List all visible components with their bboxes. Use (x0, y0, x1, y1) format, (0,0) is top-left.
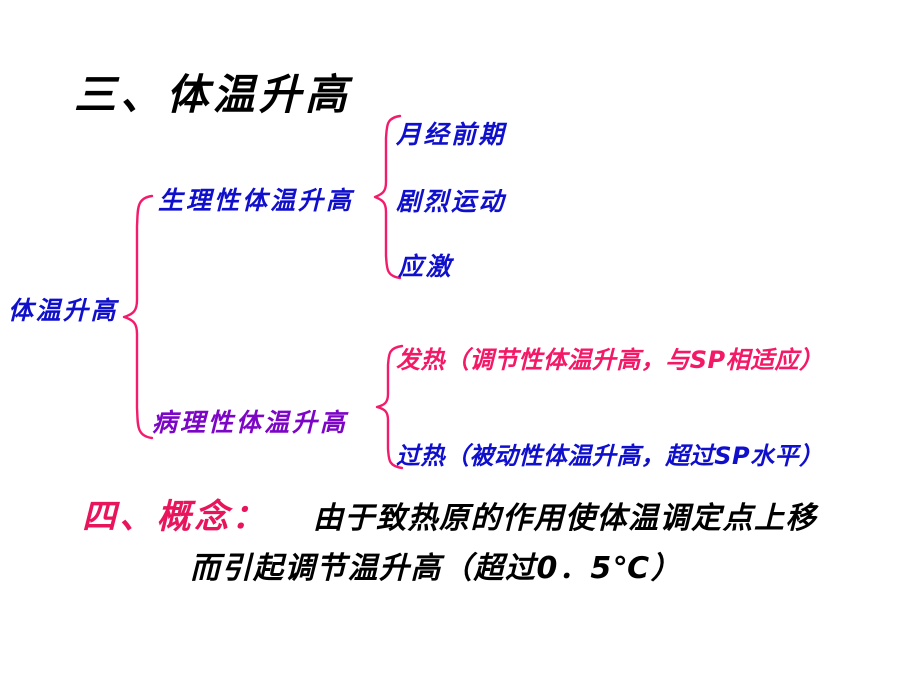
leaf-premenstrual-phase: 月经前期 (396, 122, 506, 147)
root-brace-icon (118, 192, 158, 442)
leaf-hyperthermia: 过热（被动性体温升高，超过SP水平） (396, 444, 824, 468)
leaf-stress: 应激 (398, 254, 453, 279)
section-heading-three: 三、体温升高 (74, 74, 351, 116)
tree-branch-pathological-label: 病理性体温升高 (152, 410, 348, 435)
slide-canvas: 三、体温升高 体温升高 生理性体温升高 月经前期 剧烈运动 应激 病理性体温升高… (0, 0, 920, 690)
leaf-fever: 发热（调节性体温升高，与SP相适应） (396, 348, 824, 372)
section-heading-four: 四、概念： (82, 500, 269, 534)
tree-branch-physiological-label: 生理性体温升高 (158, 188, 354, 213)
definition-line-two: 而引起调节温升高（超过0．5℃） (190, 554, 682, 584)
leaf-strenuous-exercise: 剧烈运动 (396, 189, 506, 214)
tree-root-label: 体温升高 (8, 298, 118, 323)
definition-line-one: 由于致热原的作用使体温调定点上移 (313, 504, 817, 534)
